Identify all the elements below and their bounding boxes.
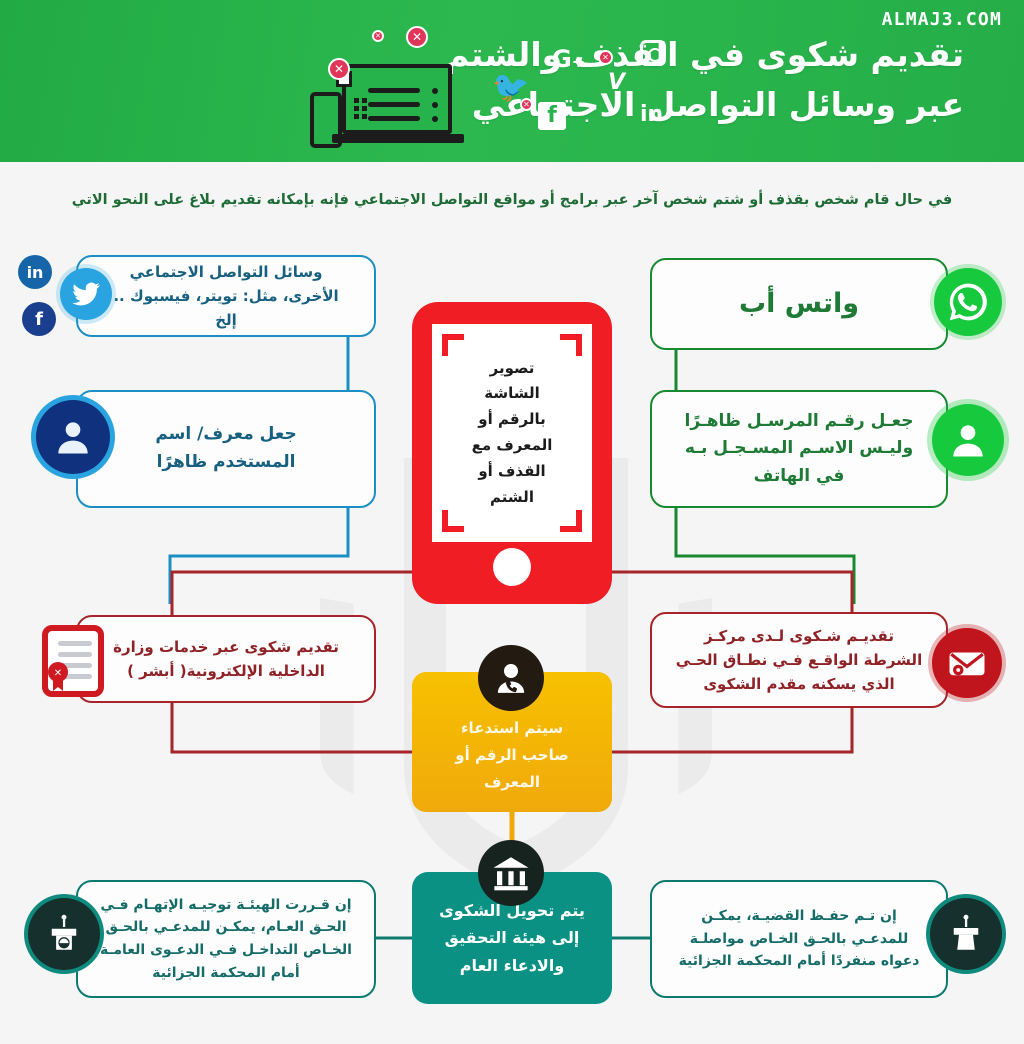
user-avatar-icon bbox=[36, 400, 110, 474]
frame-corner-icon bbox=[560, 510, 582, 532]
node-username-visible-line-2: المستخدم ظاهرًا bbox=[155, 449, 296, 477]
node-private-right-line-3: دعواه منفردًا أمام المحكمة الجزائية bbox=[679, 950, 920, 973]
node-sender-number-line-1: جعـل رقـم المرسـل ظاهـرًا bbox=[685, 408, 914, 436]
node-police-station-line-3: الذي يسكنه مقدم الشكوى bbox=[676, 672, 922, 696]
node-summon-owner-text: سيتم استدعاء صاحب الرقم أو المعرف bbox=[455, 715, 568, 796]
phone-text-line-6: الشتم bbox=[472, 485, 553, 511]
node-police-station[interactable]: تقديـم شـكوى لـدى مركـز الشرطة الواقـع ف… bbox=[650, 612, 948, 708]
facebook-icon: f bbox=[22, 302, 56, 336]
node-screenshot-phone[interactable]: تصوير الشاشة بالرقم أو المعرف مع القذف أ… bbox=[412, 302, 612, 604]
svg-text:✕: ✕ bbox=[54, 668, 62, 679]
node-social-media[interactable]: وسائل التواصل الاجتماعي الأخرى، مثل: توي… bbox=[76, 255, 376, 337]
twitter-icon bbox=[60, 268, 112, 320]
phone-home-button[interactable] bbox=[493, 548, 531, 586]
node-private-right-line-1: إن تـم حفـظ القضيـة، يمكـن bbox=[679, 905, 920, 928]
node-summon-owner-line-3: المعرف bbox=[455, 769, 568, 796]
node-sender-number[interactable]: جعـل رقـم المرسـل ظاهـرًا وليـس الاسـم ا… bbox=[650, 390, 948, 508]
node-transfer-line-3: والادعاء العام bbox=[439, 952, 585, 980]
courthouse-icon bbox=[478, 840, 544, 906]
frame-corner-icon bbox=[560, 334, 582, 356]
node-public-right-line-1: إن قـررت الهيئـة توجيـه الإتهـام فـي bbox=[100, 894, 352, 917]
courthouse-glyph bbox=[490, 852, 532, 894]
witness-stand-glyph bbox=[945, 913, 987, 955]
node-summon-owner-line-2: صاحب الرقم أو bbox=[455, 742, 568, 769]
node-public-right-line-4: أمام المحكمة الجزائية bbox=[100, 962, 352, 985]
user-avatar-icon bbox=[932, 404, 1004, 476]
phone-text-line-2: الشاشة bbox=[472, 381, 553, 407]
envelope-location-icon bbox=[932, 628, 1002, 698]
node-summon-owner-line-1: سيتم استدعاء bbox=[455, 715, 568, 742]
node-social-media-line-1: وسائل التواصل الاجتماعي bbox=[100, 260, 352, 284]
witness-stand-icon bbox=[930, 898, 1002, 970]
node-police-station-line-1: تقديـم شـكوى لـدى مركـز bbox=[676, 624, 922, 648]
node-public-right-line-3: الخـاص التداخـل فـي الدعـوى العامـة bbox=[100, 939, 352, 962]
podium-glyph bbox=[43, 913, 85, 955]
node-private-right[interactable]: إن تـم حفـظ القضيـة، يمكـن للمدعـي بالحـ… bbox=[650, 880, 948, 998]
envelope-glyph bbox=[946, 642, 988, 684]
node-private-right-line-2: للمدعـي بالحـق الخـاص مواصلـة bbox=[679, 928, 920, 951]
node-sender-number-line-3: في الهاتف bbox=[685, 463, 914, 491]
linkedin-icon: in bbox=[18, 255, 52, 289]
node-public-right[interactable]: إن قـررت الهيئـة توجيـه الإتهـام فـي الح… bbox=[76, 880, 376, 998]
certificate-document-icon: ✕ bbox=[42, 625, 104, 697]
phone-text-line-5: القذف أو bbox=[472, 459, 553, 485]
phone-screen-text: تصوير الشاشة بالرقم أو المعرف مع القذف أ… bbox=[472, 356, 553, 511]
node-transfer-line-2: إلى هيئة التحقيق bbox=[439, 924, 585, 952]
node-whatsapp[interactable]: واتس أب bbox=[650, 258, 948, 350]
node-sender-number-line-2: وليـس الاسـم المسـجـل بـه bbox=[685, 435, 914, 463]
frame-corner-icon bbox=[442, 334, 464, 356]
frame-corner-icon bbox=[442, 510, 464, 532]
node-moi-absher-line-2: الداخلية الإلكترونية( أبشر ) bbox=[113, 659, 339, 683]
phone-text-line-3: بالرقم أو bbox=[472, 407, 553, 433]
user-call-icon bbox=[478, 645, 544, 711]
node-social-media-line-2: الأخرى، مثل: تويتر، فيسبوك .. إلخ bbox=[100, 284, 352, 333]
node-transfer-investigation-text: يتم تحويل الشكوى إلى هيئة التحقيق والادع… bbox=[439, 897, 585, 980]
phone-text-line-1: تصوير bbox=[472, 356, 553, 382]
twitter-bird-glyph bbox=[71, 279, 101, 309]
user-glyph bbox=[51, 415, 95, 459]
node-police-station-line-2: الشرطة الواقـع فـي نطـاق الحـي bbox=[676, 648, 922, 672]
whatsapp-icon bbox=[934, 268, 1002, 336]
node-moi-absher[interactable]: تقديم شكوى عبر خدمات وزارة الداخلية الإل… bbox=[76, 615, 376, 703]
phone-screen: تصوير الشاشة بالرقم أو المعرف مع القذف أ… bbox=[432, 324, 592, 542]
node-username-visible-line-1: جعل معرف/ اسم bbox=[155, 421, 296, 449]
whatsapp-glyph bbox=[946, 280, 990, 324]
user-call-glyph bbox=[490, 657, 532, 699]
phone-text-line-4: المعرف مع bbox=[472, 433, 553, 459]
node-whatsapp-label: واتس أب bbox=[739, 282, 859, 326]
node-username-visible[interactable]: جعل معرف/ اسم المستخدم ظاهرًا bbox=[76, 390, 376, 508]
judge-podium-icon bbox=[28, 898, 100, 970]
node-public-right-line-2: الحـق العـام، يمكـن للمدعـي بالحـق bbox=[100, 916, 352, 939]
certificate-glyph: ✕ bbox=[42, 625, 104, 697]
user-glyph bbox=[946, 418, 990, 462]
node-moi-absher-line-1: تقديم شكوى عبر خدمات وزارة bbox=[113, 635, 339, 659]
